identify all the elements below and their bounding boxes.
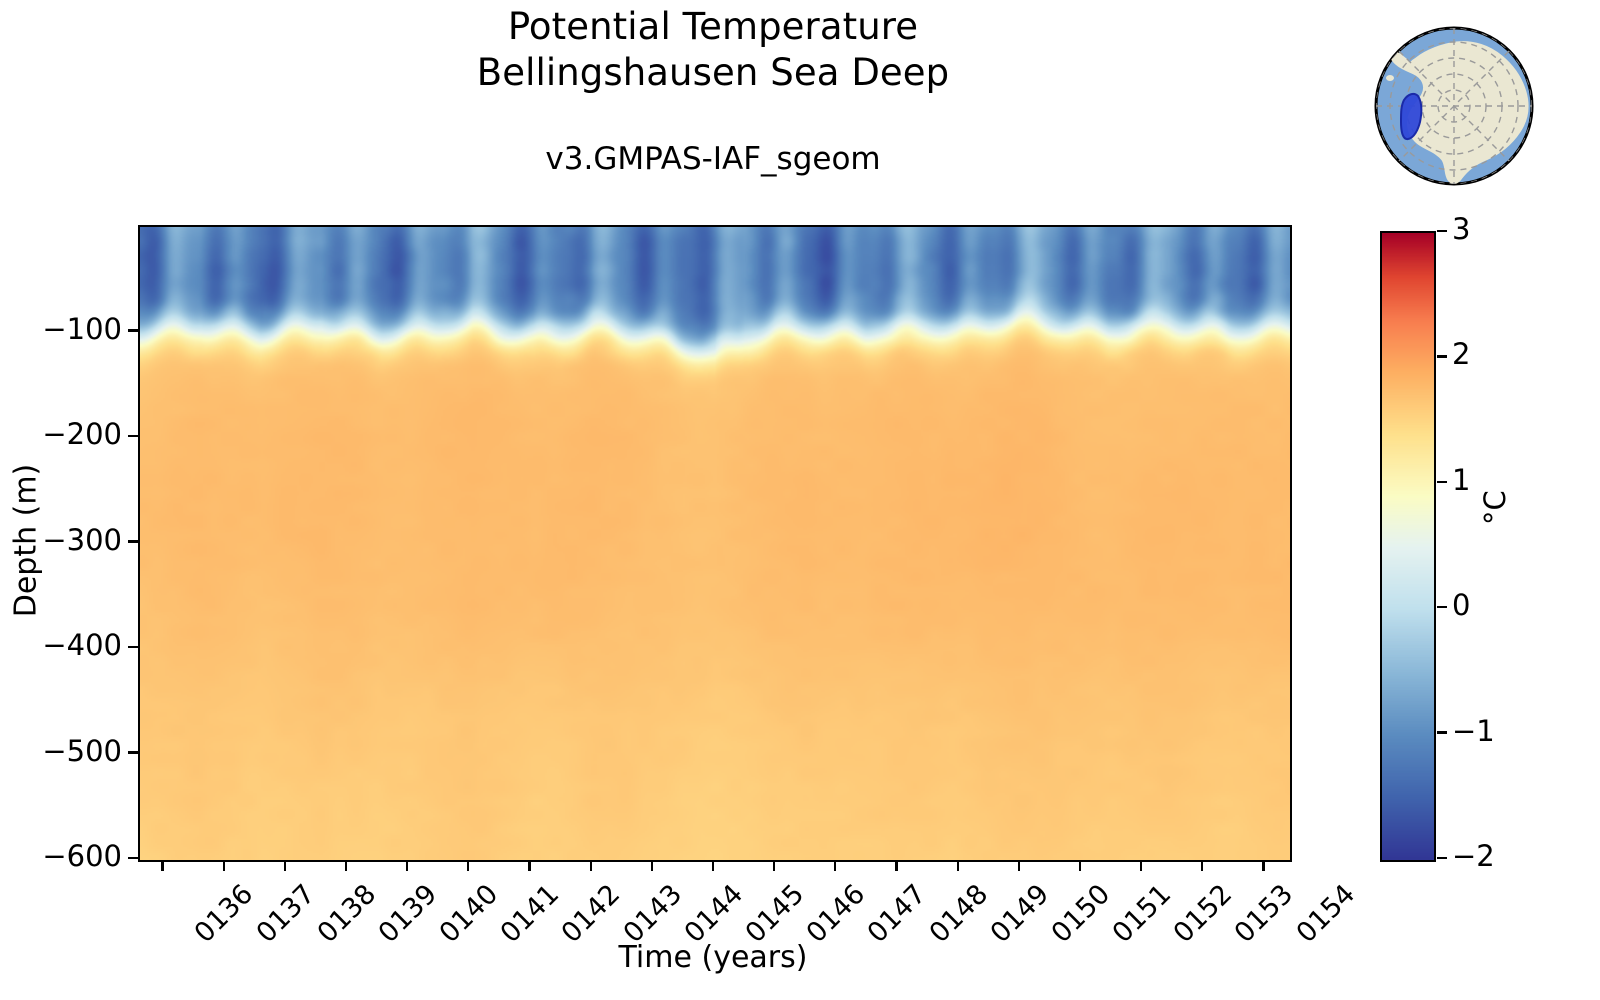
x-axis-tick-label: 0137 [252,880,320,948]
x-axis-tick-label: 0139 [374,880,442,948]
heatmap-plot-area [138,225,1292,862]
x-axis-tick-label: 0138 [313,880,381,948]
x-axis-tick-mark [712,860,714,871]
y-axis-tick-label: −200 [42,420,122,449]
colorbar-tick-mark [1437,731,1447,733]
antarctic-locator-map [1356,8,1552,204]
y-axis-tick-label: −100 [42,315,122,344]
x-axis-tick-label: 0145 [741,880,809,948]
x-axis-tick-mark [834,860,836,871]
x-axis-tick-label: 0149 [986,880,1054,948]
x-axis-tick-mark [1201,860,1203,871]
x-axis-label: Time (years) [138,940,1288,975]
x-axis-tick-mark [284,860,286,871]
figure-canvas: Potential Temperature Bellingshausen Sea… [0,0,1600,1000]
x-axis-tick-mark [773,860,775,871]
title-line-2: Bellingshausen Sea Deep [138,50,1288,96]
x-axis-tick-label: 0141 [496,880,564,948]
x-axis-tick-mark [1140,860,1142,871]
x-axis-tick-label: 0154 [1292,880,1360,948]
y-axis-tick-mark [128,646,138,648]
graticule-meridians [1376,28,1532,184]
x-axis-tick-mark [651,860,653,871]
y-axis-tick-label: −600 [42,842,122,871]
x-axis-tick-label: 0151 [1108,880,1176,948]
colorbar-tick-label: 1 [1452,466,1470,495]
y-axis-tick-mark [128,540,138,542]
colorbar-unit-label: °C [1478,490,1512,525]
x-axis-tick-mark [345,860,347,871]
y-axis-tick-label: −400 [42,631,122,660]
potential-temperature-heatmap [140,227,1290,860]
x-axis-tick-mark [406,860,408,871]
colorbar-tick-label: 3 [1452,215,1470,244]
y-axis-tick-mark [128,329,138,331]
x-axis-tick-label: 0136 [191,880,259,948]
y-axis-tick-mark [128,857,138,859]
x-axis-tick-mark [528,860,530,871]
y-axis-label: Depth (m) [9,230,44,850]
x-axis-tick-mark [957,860,959,871]
x-axis-tick-label: 0146 [802,880,870,948]
colorbar-tick-mark [1437,230,1447,232]
x-axis-tick-mark [467,860,469,871]
title-line-1: Potential Temperature [138,4,1288,50]
island-marker [1501,173,1511,179]
colorbar-tick-label: 2 [1452,340,1470,369]
y-axis-tick-mark [128,751,138,753]
x-axis-tick-mark [1262,860,1264,871]
x-axis-tick-label: 0153 [1230,880,1298,948]
x-axis-tick-label: 0140 [435,880,503,948]
colorbar-gradient [1382,233,1434,860]
colorbar-tick-mark [1437,606,1447,608]
y-axis-tick-label: −300 [42,526,122,555]
x-axis-tick-mark [161,860,163,871]
figure-title: Potential Temperature Bellingshausen Sea… [138,4,1288,96]
colorbar-tick-mark [1437,355,1447,357]
colorbar-tick-label: 0 [1452,591,1470,620]
x-axis-tick-mark [1079,860,1081,871]
y-axis-tick-label: −500 [42,737,122,766]
x-axis-tick-label: 0144 [680,880,748,948]
x-axis-tick-label: 0150 [1047,880,1115,948]
x-axis-tick-label: 0147 [863,880,931,948]
y-axis-tick-mark [128,435,138,437]
colorbar-tick-label: −2 [1452,842,1495,871]
colorbar [1380,231,1436,862]
colorbar-tick-label: −1 [1452,717,1495,746]
x-axis-tick-mark [895,860,897,871]
x-axis-tick-mark [590,860,592,871]
x-axis-tick-mark [1018,860,1020,871]
x-axis-tick-label: 0152 [1169,880,1237,948]
x-axis-tick-label: 0142 [558,880,626,948]
colorbar-tick-mark [1437,481,1447,483]
colorbar-tick-mark [1437,857,1447,859]
x-axis-tick-label: 0148 [925,880,993,948]
figure-subtitle: v3.GMPAS-IAF_sgeom [138,140,1288,178]
x-axis-tick-label: 0143 [619,880,687,948]
x-axis-tick-mark [223,860,225,871]
island-marker [1386,75,1394,81]
